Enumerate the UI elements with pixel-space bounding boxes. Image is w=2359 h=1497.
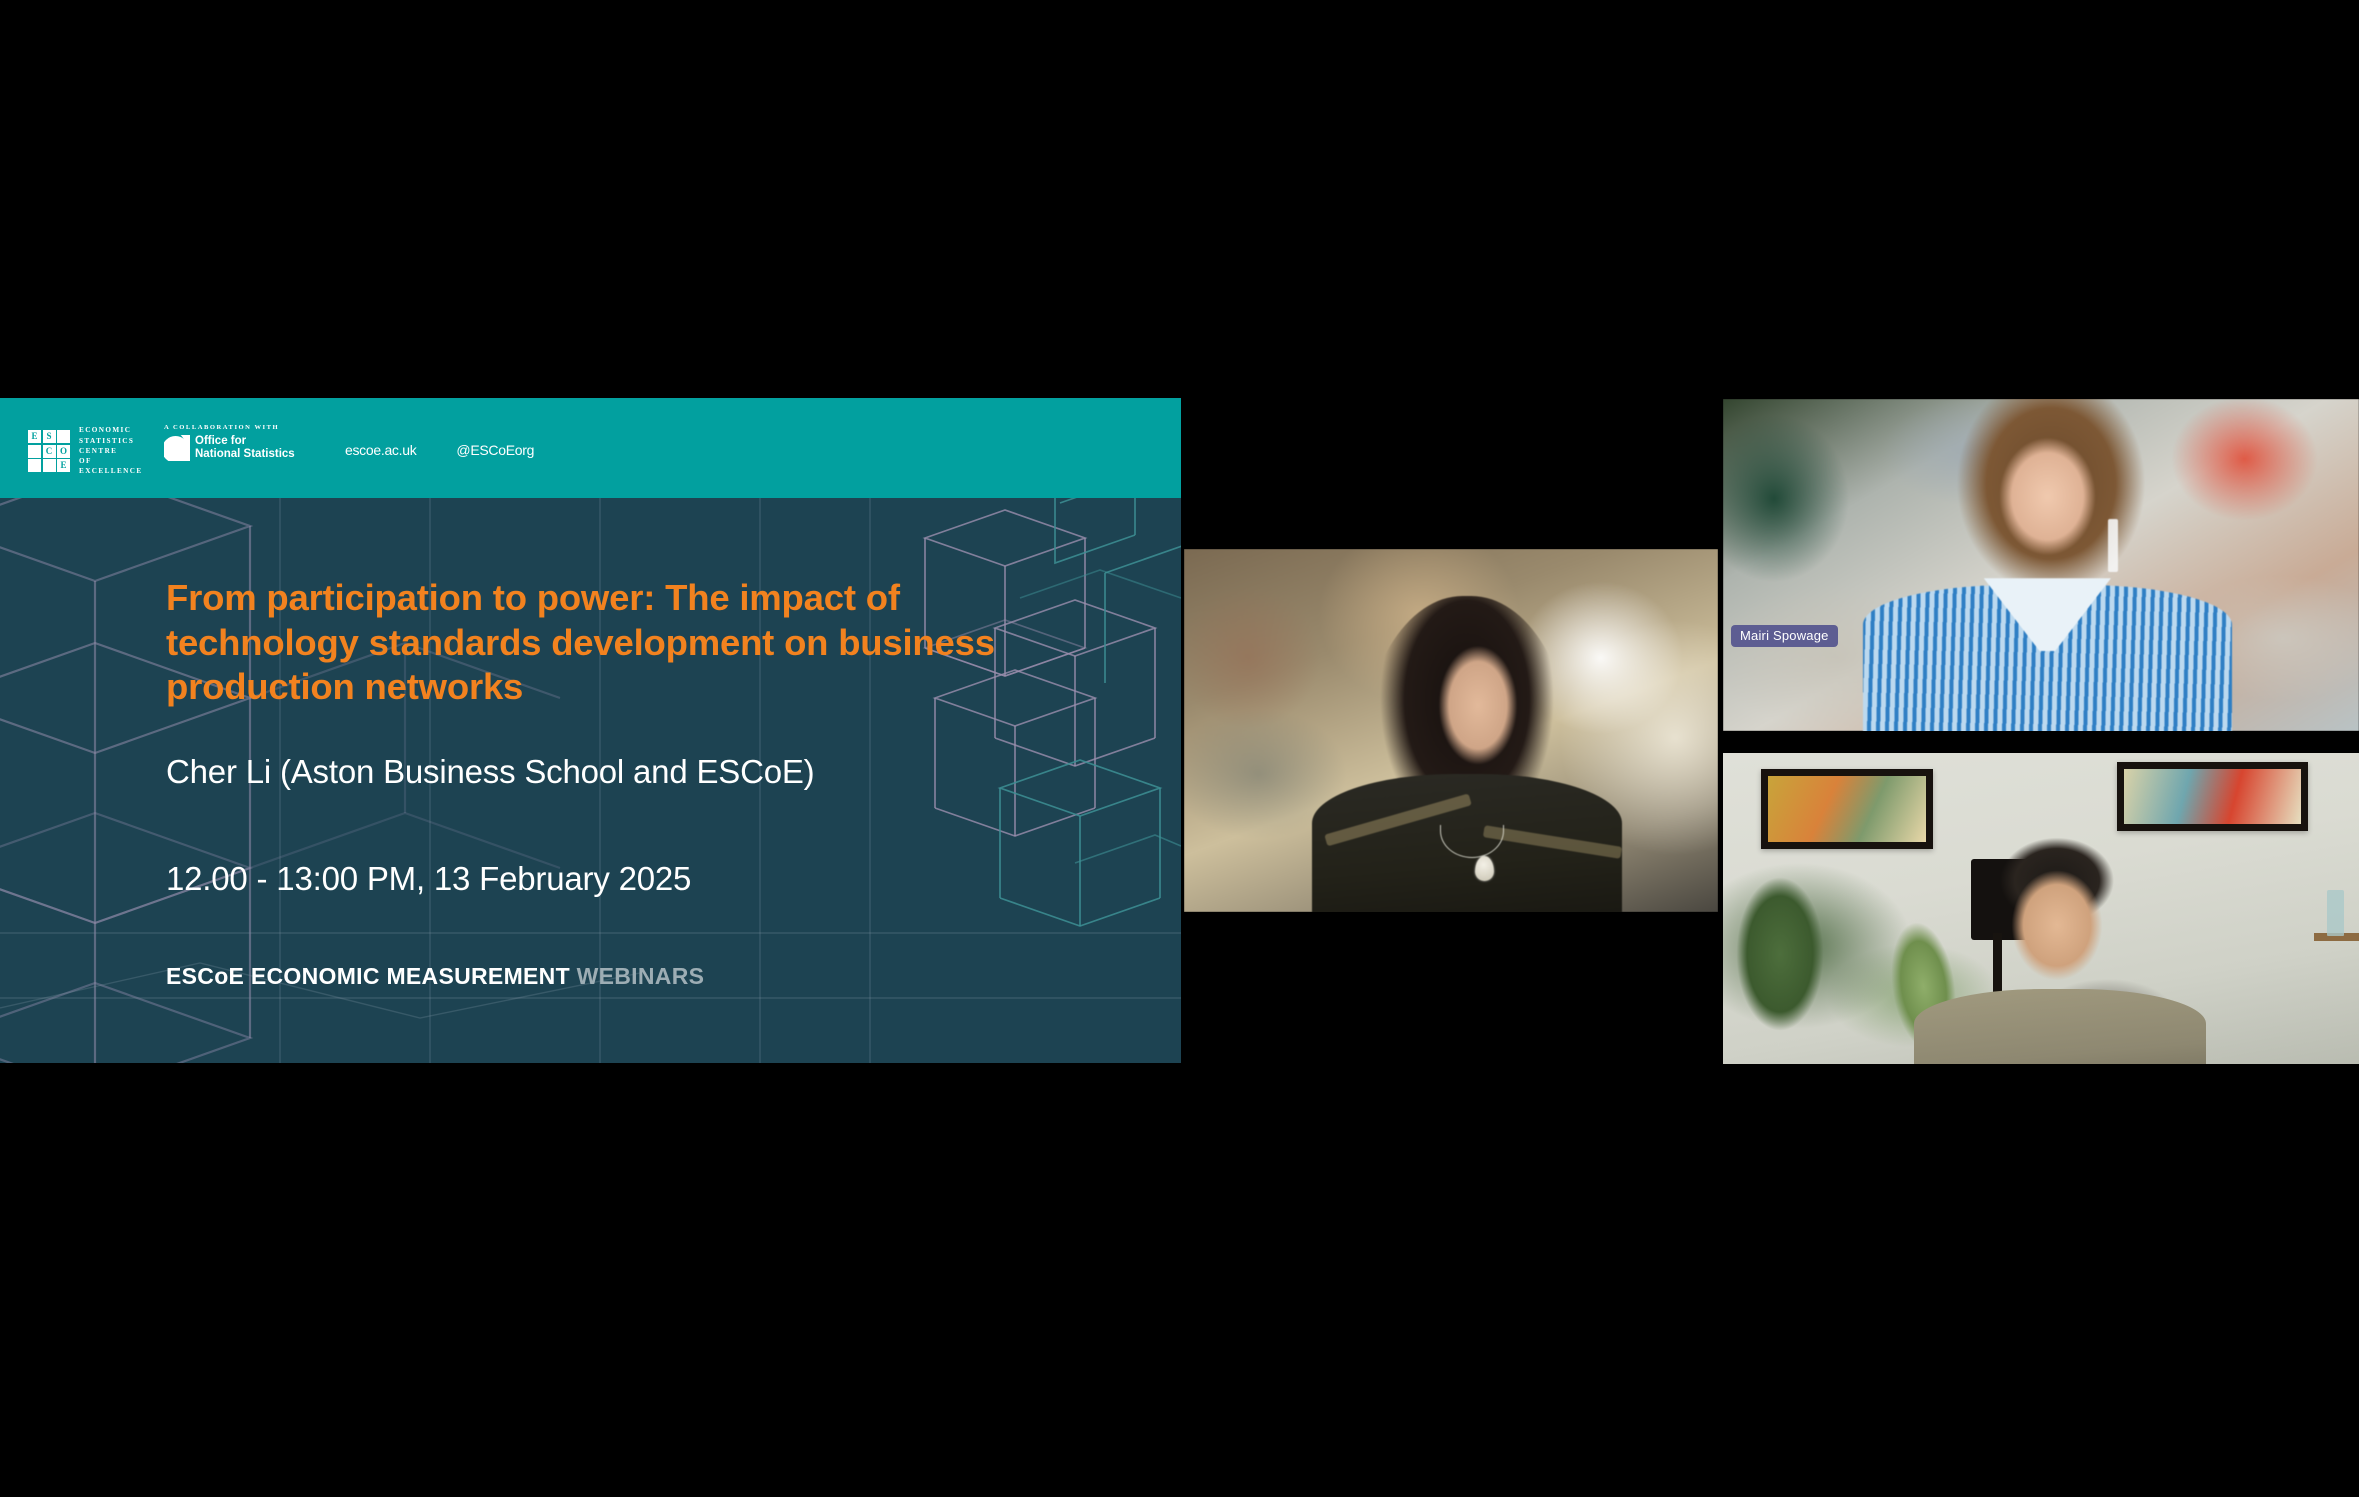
slide-speaker: Cher Li (Aston Business School and ESCoE… [166,753,1066,791]
ons-line-2: National Statistics [195,448,295,460]
escoe-logo-wordmark: ECONOMIC STATISTICS CENTRE OF EXCELLENCE [79,425,143,476]
wall-painting-right [2117,762,2308,830]
center-speaker-tile[interactable] [1184,549,1718,912]
participant-name-badge: Mairi Spowage [1731,625,1838,647]
torso-shape [1914,989,2207,1064]
logo-cell-e2: E [57,459,70,472]
ons-collaboration-block: A COLLABORATION WITH Office for National… [164,424,314,461]
logo-cell-e1: E [28,430,41,443]
ons-name: Office for National Statistics [195,435,295,461]
logo-cell-blank2 [28,445,41,458]
website-link[interactable]: escoe.ac.uk [345,442,416,458]
logo-cell-blank1 [57,430,70,443]
video-feed-cher-li [1184,549,1718,912]
header-links: escoe.ac.uk @ESCoEorg [345,442,534,458]
twitter-handle[interactable]: @ESCoEorg [456,442,534,458]
collaboration-label: A COLLABORATION WITH [164,424,314,431]
video-feed-participant-3 [1723,753,2359,1064]
slide-header-band: E S C O E ECONOMIC STATISTICS CENTRE OF … [0,398,1181,498]
escoe-logo-grid: E S C O E [28,430,70,472]
video-feed-mairi-spowage [1723,399,2359,731]
logo-cell-o: O [57,445,70,458]
logo-cell-s: S [43,430,56,443]
shared-slide[interactable]: E S C O E ECONOMIC STATISTICS CENTRE OF … [0,398,1181,1063]
top-right-participant-tile[interactable]: Mairi Spowage [1723,399,2359,731]
bottle-object [2327,890,2344,937]
series-name-muted: WEBINARS [577,963,705,989]
logo-cell-blank3 [28,459,41,472]
wall-painting-left [1761,769,1933,850]
series-name-strong: ESCoE ECONOMIC MEASUREMENT [166,963,577,989]
ons-logo: Office for National Statistics [164,435,314,461]
logo-cell-blank4 [43,459,56,472]
meeting-screen: E S C O E ECONOMIC STATISTICS CENTRE OF … [0,0,2359,1497]
slide-title: From participation to power: The impact … [166,576,1046,710]
house-plant [1729,868,1831,1055]
earbud-shape [2108,519,2118,572]
bottom-right-participant-tile[interactable] [1723,753,2359,1064]
ons-crescent-icon [164,435,190,461]
logo-cell-c: C [43,445,56,458]
ons-line-1: Office for [195,435,246,447]
slide-series-footer: ESCoE ECONOMIC MEASUREMENT WEBINARS [166,963,1066,990]
slide-datetime: 12.00 - 13:00 PM, 13 February 2025 [166,860,1066,898]
